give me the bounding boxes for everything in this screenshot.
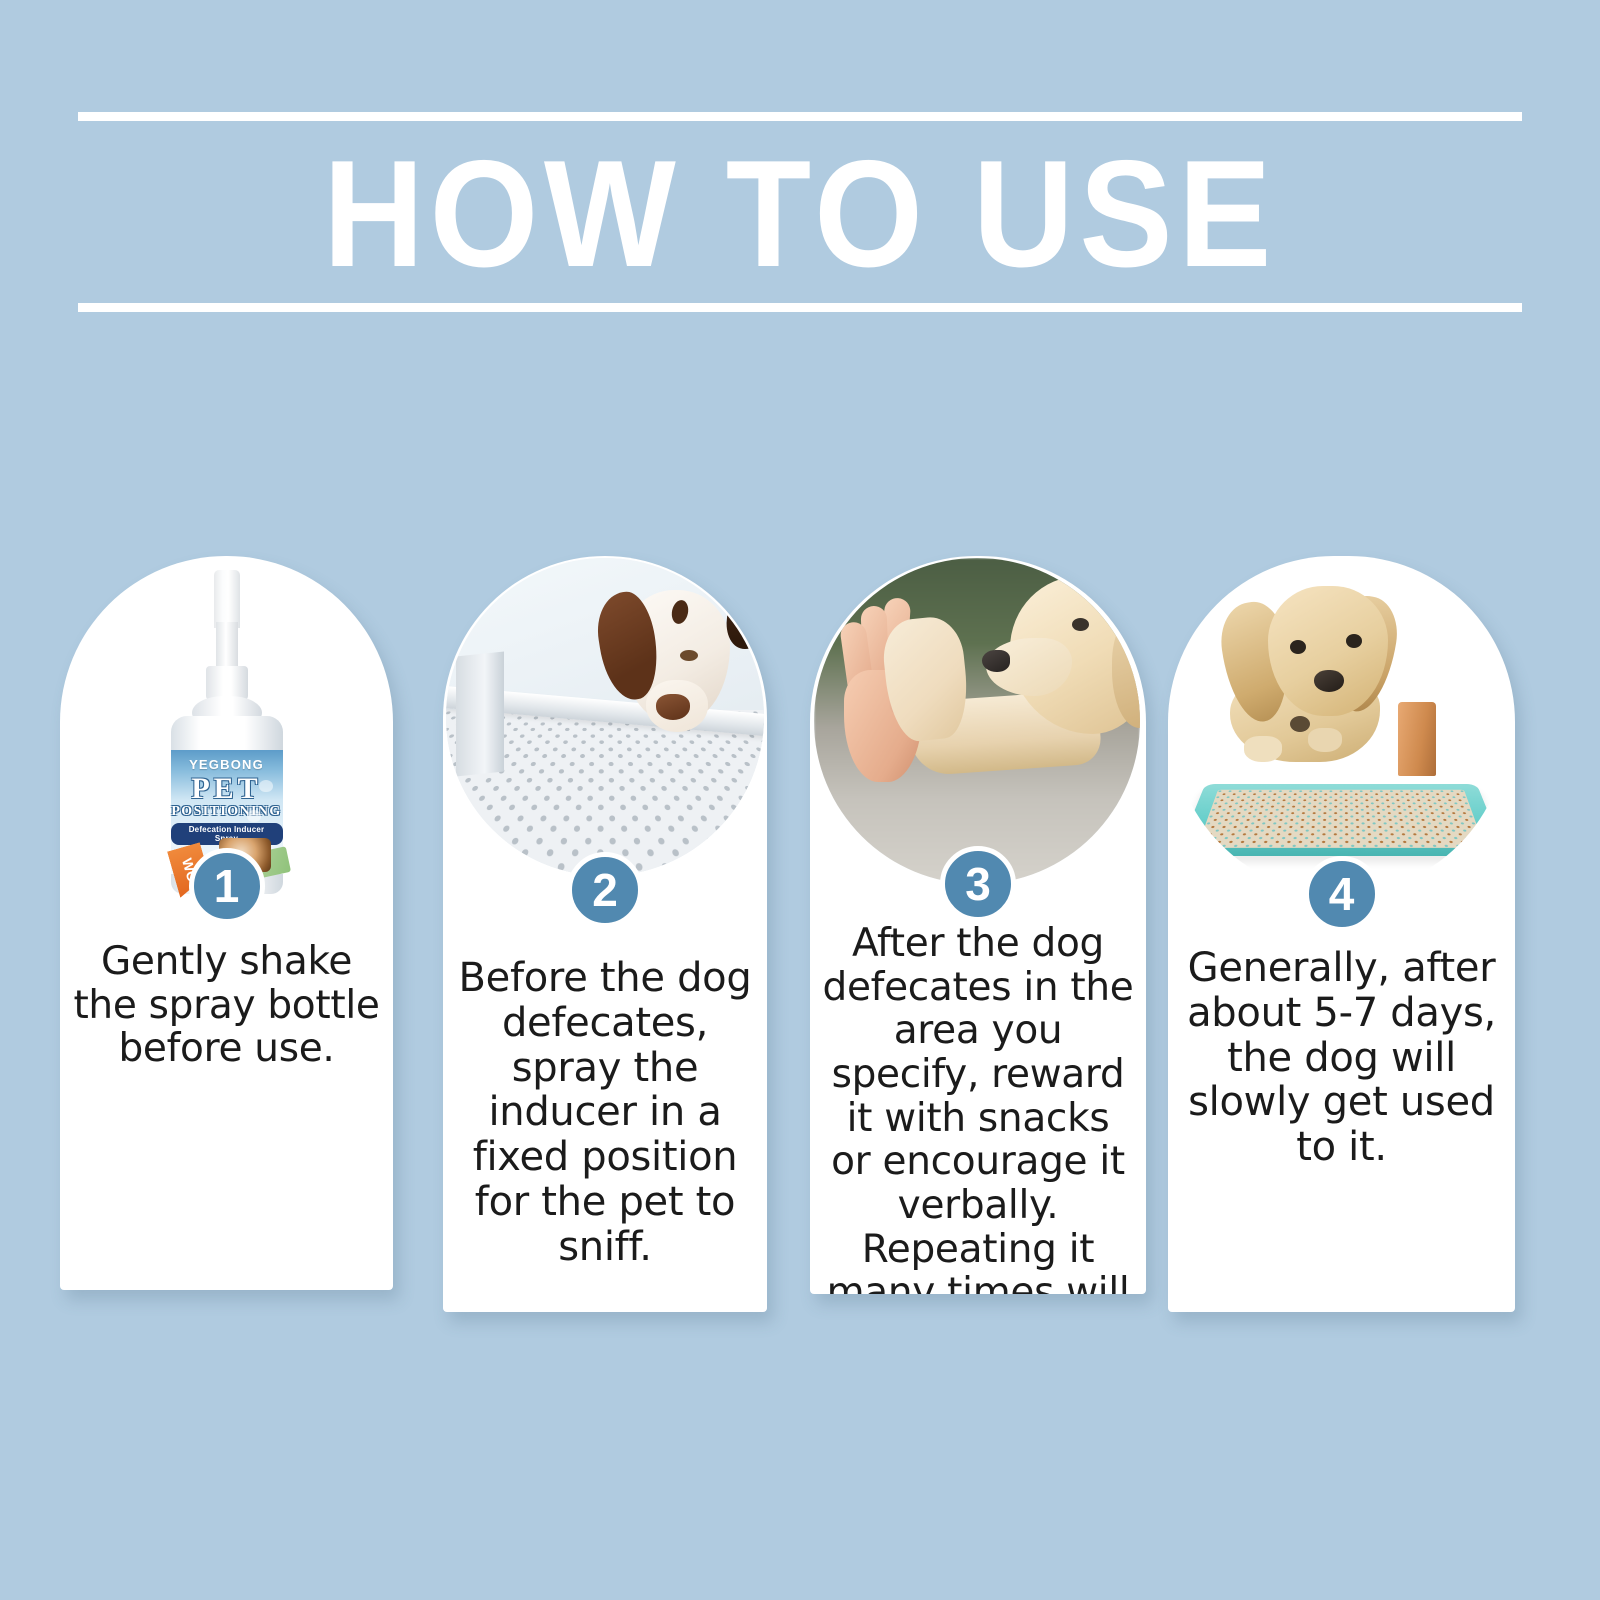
tray-grid-surface <box>1197 790 1485 848</box>
step-badge-1: 1 <box>189 848 265 924</box>
step-4-media <box>1168 556 1515 886</box>
puppy-graphic <box>1220 578 1430 798</box>
step-caption-4: Generally, after about 5-7 days, the dog… <box>1180 946 1503 1170</box>
paw-print-icon <box>247 810 261 822</box>
dog-nose <box>656 694 690 720</box>
bottle-nozzle-top <box>214 570 240 628</box>
step-1-media: YEGBONG PET POSITIONING Defecation Induc… <box>60 556 393 886</box>
paw-print-icon <box>259 780 273 792</box>
bottle-product-name-line2: POSITIONING <box>171 804 283 819</box>
dog-head-graphic <box>600 572 764 792</box>
puppy-paw-left <box>1244 736 1282 762</box>
puppy-fur-spot <box>1290 716 1310 732</box>
step-card-3[interactable]: 3 After the dog defecates in the area yo… <box>810 556 1146 1294</box>
dog-nose <box>982 650 1010 672</box>
title-rule-bottom <box>78 303 1522 312</box>
step-3-media <box>810 556 1146 886</box>
bottle-brand-text: YEGBONG <box>171 750 283 772</box>
step-card-4[interactable]: 4 Generally, after about 5-7 days, the d… <box>1168 556 1515 1312</box>
step-badge-2: 2 <box>567 852 643 928</box>
step-2-media <box>443 556 767 886</box>
dog-high-five-photo <box>814 558 1140 884</box>
page-title: HOW TO USE <box>136 121 1464 303</box>
dog-eye <box>680 650 698 661</box>
puppy-nose <box>1314 670 1344 692</box>
dog-eye <box>1072 618 1089 631</box>
title-rule-top <box>78 112 1522 121</box>
steps-row: YEGBONG PET POSITIONING Defecation Induc… <box>60 556 1540 1356</box>
puppy-on-tray-photo <box>1172 558 1508 894</box>
step-card-2[interactable]: 2 Before the dog defecates, spray the in… <box>443 556 767 1312</box>
step-caption-3: After the dog defecates in the area you … <box>822 922 1134 1294</box>
bottle-pump-collar <box>206 666 248 700</box>
bottle-nozzle-stem <box>216 622 238 670</box>
dog-and-tray-photo <box>446 558 764 876</box>
puppy-paw-right <box>1308 728 1342 752</box>
step-caption-1: Gently shake the spray bottle before use… <box>72 940 381 1071</box>
tray-wall-panel <box>456 651 504 776</box>
header: HOW TO USE <box>78 112 1522 312</box>
step-card-1[interactable]: YEGBONG PET POSITIONING Defecation Induc… <box>60 556 393 1290</box>
step-caption-2: Before the dog defecates, spray the indu… <box>455 956 755 1270</box>
spray-bottle-icon: YEGBONG PET POSITIONING Defecation Induc… <box>167 570 287 890</box>
puppy-eye-left <box>1290 640 1306 654</box>
step-badge-4: 4 <box>1304 856 1380 932</box>
dog-head-graphic <box>980 564 1140 794</box>
puppy-eye-right <box>1346 634 1362 648</box>
step-badge-3: 3 <box>940 846 1016 922</box>
